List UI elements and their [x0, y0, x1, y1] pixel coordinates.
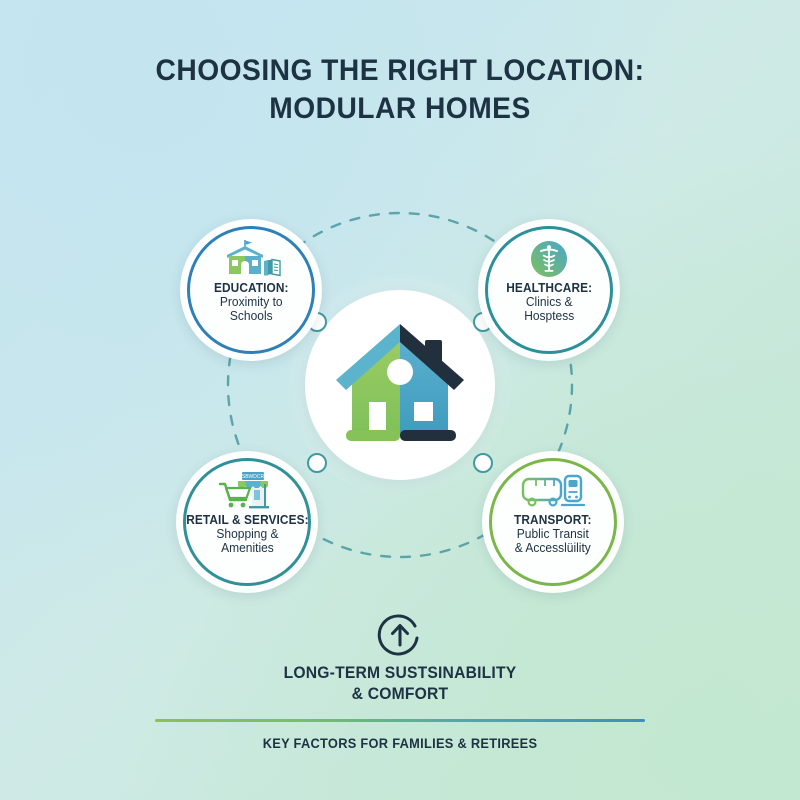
junction-dot-bottom-left — [307, 453, 327, 473]
title-line-1: CHOOSING THE RIGHT LOCATION: — [24, 52, 776, 90]
sustainability-label: LONG-TERM SUSTSINABILITY & COMFORT — [20, 663, 780, 706]
title-line-2: MODULAR HOMES — [24, 90, 776, 128]
node-education[interactable]: EDUCATION: Proximity to Schools — [180, 219, 322, 361]
node-education-text: EDUCATION: Proximity to Schools — [203, 281, 300, 323]
store-sign-text: SBWDCR — [242, 474, 265, 480]
footer-divider — [155, 719, 645, 722]
node-healthcare-text: HEALTHCARE: Clinics & Hosptess — [495, 281, 603, 323]
node-education-heading: EDUCATION: — [214, 281, 289, 295]
node-retail[interactable]: SBWDCR RETAIL & SERVICES: Shopping & Am — [176, 451, 318, 593]
sustainability-line-1: LONG-TERM SUSTSINABILITY — [20, 663, 780, 684]
node-healthcare-line1: Clinics & — [506, 295, 593, 309]
node-transport-heading: TRANSPORT: — [514, 513, 591, 527]
node-retail-line1: Shopping & — [185, 527, 309, 541]
schoolhouse-book-icon — [220, 239, 282, 279]
house-icon — [330, 318, 470, 453]
sustainability-line-2: & COMFORT — [20, 684, 780, 705]
node-transport-line2: & Accesslüility — [514, 541, 592, 555]
caduceus-icon — [529, 239, 569, 279]
node-healthcare-line2: Hosptess — [506, 309, 593, 323]
node-transport[interactable]: TRANSPORT: Public Transit & Accesslüilit… — [482, 451, 624, 593]
node-education-line1: Proximity to — [213, 295, 288, 309]
node-healthcare-heading: HEALTHCARE: — [506, 281, 592, 295]
node-retail-text: RETAIL & SERVICES: Shopping & Amenities — [178, 513, 317, 555]
junction-dot-bottom-right — [473, 453, 493, 473]
node-healthcare[interactable]: HEALTHCARE: Clinics & Hosptess — [478, 219, 620, 361]
node-transport-text: TRANSPORT: Public Transit & Accesslüilit… — [507, 513, 599, 555]
shopping-cart-store-icon: SBWDCR — [216, 471, 278, 511]
bus-train-icon — [521, 471, 585, 511]
footer-text: KEY FACTORS FOR FAMILIES & RETIREES — [20, 736, 780, 751]
arrow-up-circle-icon — [377, 612, 423, 658]
node-retail-heading: RETAIL & SERVICES: — [186, 513, 308, 527]
node-transport-line1: Public Transit — [514, 527, 592, 541]
infographic-canvas: CHOOSING THE RIGHT LOCATION: MODULAR HOM… — [0, 0, 800, 800]
node-retail-line2: Amenities — [185, 541, 309, 555]
node-education-line2: Schools — [213, 309, 288, 323]
page-title: CHOOSING THE RIGHT LOCATION: MODULAR HOM… — [24, 52, 776, 129]
